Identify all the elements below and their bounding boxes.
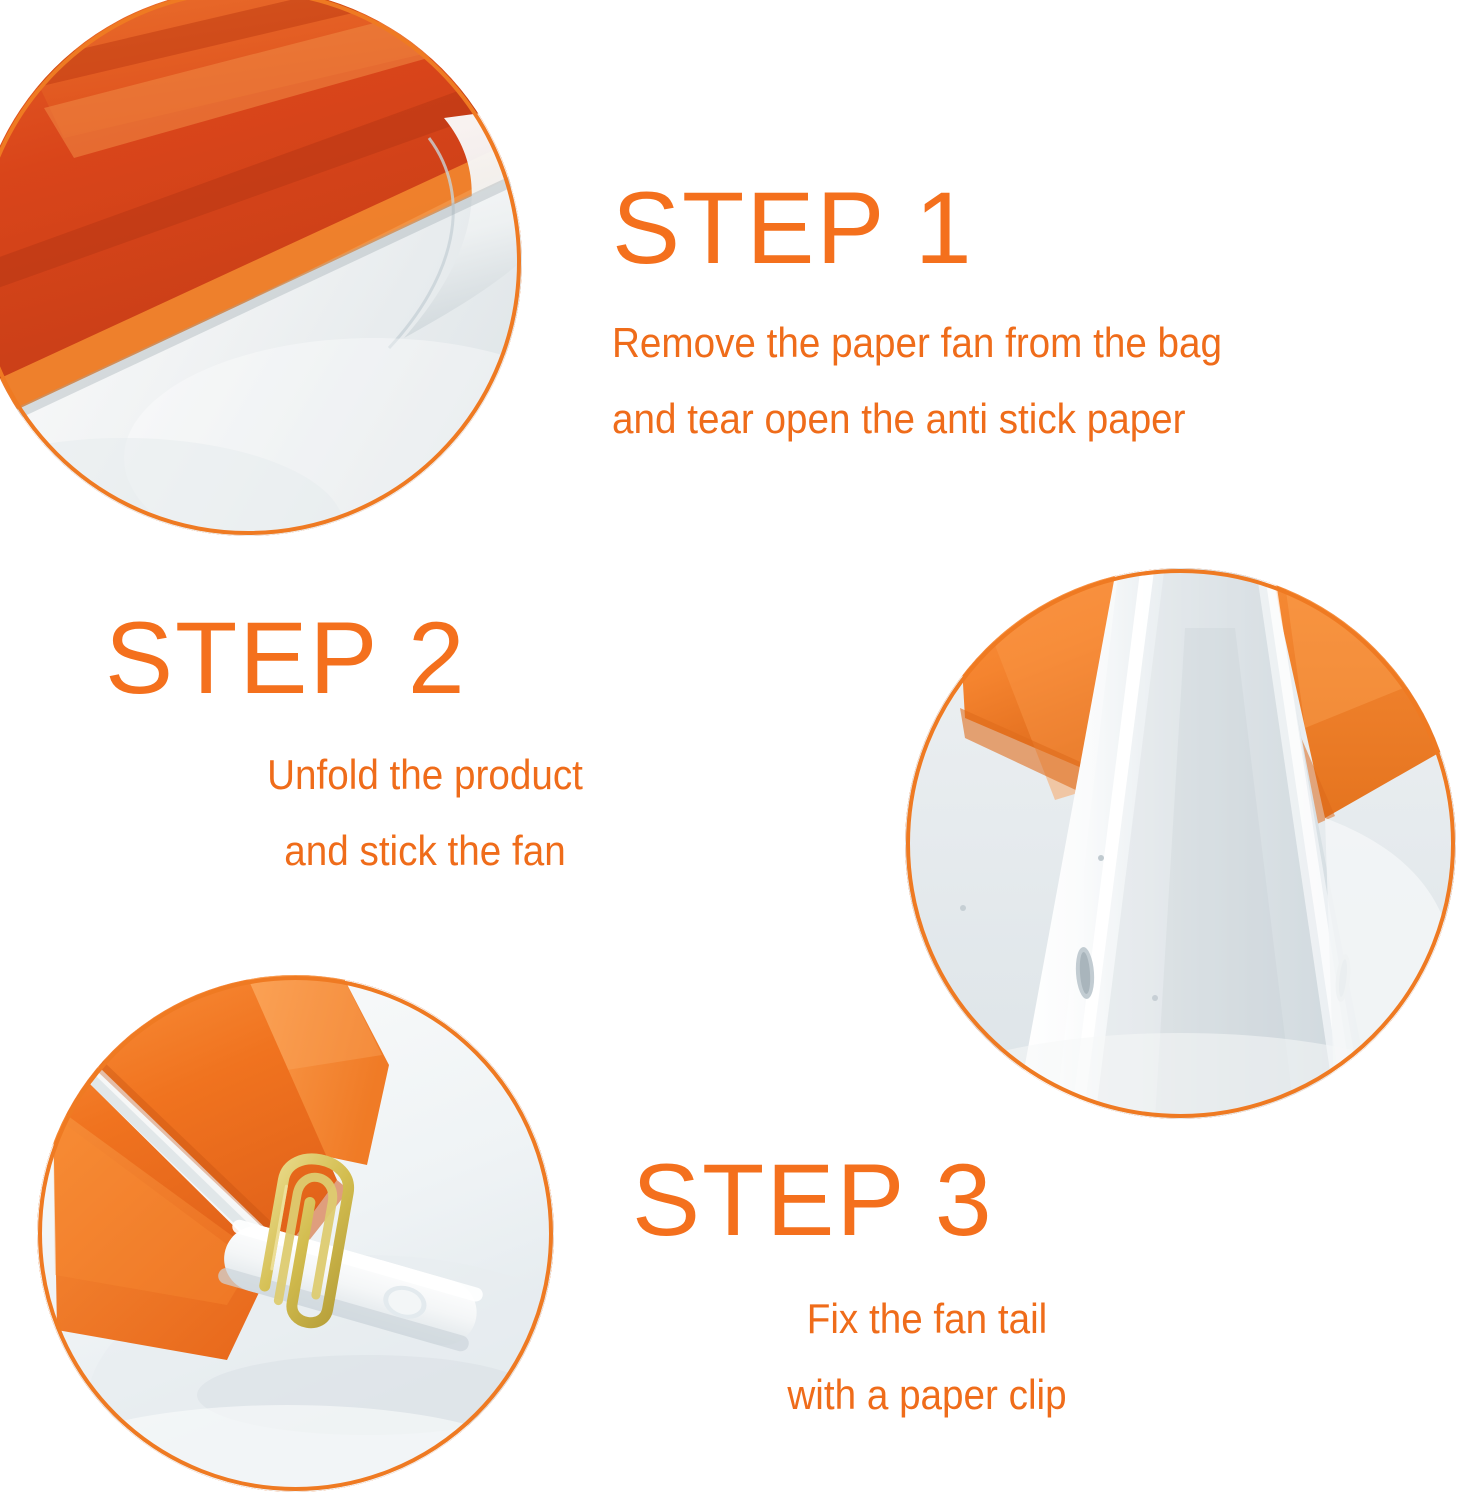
step-3-description: Fix the fan tail with a paper clip (632, 1298, 1222, 1416)
photo-unfolded-fan (905, 568, 1456, 1119)
step-3-title: STEP 3 (632, 1148, 1222, 1252)
step-1-line-1: Remove the paper fan from the bag (612, 322, 1222, 364)
step-2-line-2: and stick the fan (131, 830, 720, 872)
step-2-title: STEP 2 (105, 606, 745, 710)
step-3-line-2: with a paper clip (656, 1374, 1199, 1416)
photo-step2-inner (905, 568, 1456, 1119)
step-2-description: Unfold the product and stick the fan (105, 754, 745, 872)
photo-step1-inner (0, 0, 522, 536)
photo-peel-anti-stick-paper (0, 0, 522, 536)
step-1-text-block: STEP 1 Remove the paper fan from the bag… (612, 176, 1275, 440)
photo-paper-clip-on-tail (37, 975, 554, 1492)
step-1-description: Remove the paper fan from the bag and te… (612, 322, 1275, 440)
step-3-line-1: Fix the fan tail (656, 1298, 1199, 1340)
step-2-text-block: STEP 2 Unfold the product and stick the … (105, 606, 745, 872)
step-3-text-block: STEP 3 Fix the fan tail with a paper cli… (632, 1148, 1222, 1416)
step-2-line-1: Unfold the product (131, 754, 720, 796)
photo-step3-inner (37, 975, 554, 1492)
step-1-title: STEP 1 (612, 176, 1275, 280)
step-1-line-2: and tear open the anti stick paper (612, 398, 1222, 440)
instruction-poster: STEP 1 Remove the paper fan from the bag… (0, 0, 1461, 1500)
